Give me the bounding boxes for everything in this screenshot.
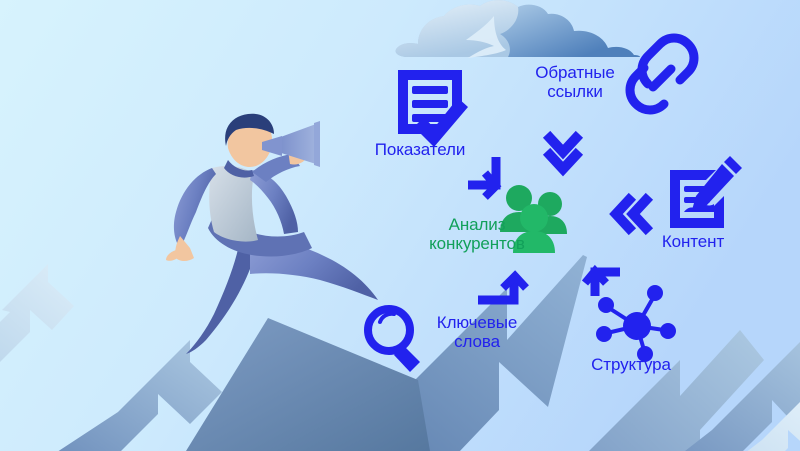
elbow-arrow-down-right-icon xyxy=(468,157,496,197)
label-keywords: Ключевые слова xyxy=(420,313,534,351)
label-metrics: Показатели xyxy=(360,140,480,159)
icon-layer xyxy=(0,0,800,451)
double-chevron-left-icon xyxy=(616,200,646,228)
label-center-competitor-analysis: Анализ конкурентов xyxy=(411,215,543,253)
elbow-arrow-up-right-icon xyxy=(478,276,526,300)
elbow-arrow-up-left-icon xyxy=(585,271,620,296)
label-structure: Структура xyxy=(576,355,686,374)
magnifier-icon[interactable] xyxy=(368,309,420,372)
document-pencil-icon[interactable] xyxy=(670,156,742,228)
infographic-scene: Показатели Обратные ссылки Контент Струк… xyxy=(0,0,800,451)
document-check-icon[interactable] xyxy=(398,70,468,147)
label-content: Контент xyxy=(645,232,741,251)
label-backlinks: Обратные ссылки xyxy=(516,63,634,101)
double-chevron-down-icon xyxy=(550,138,576,169)
network-nodes-icon[interactable] xyxy=(596,285,676,362)
chain-link-icon[interactable] xyxy=(630,38,694,110)
